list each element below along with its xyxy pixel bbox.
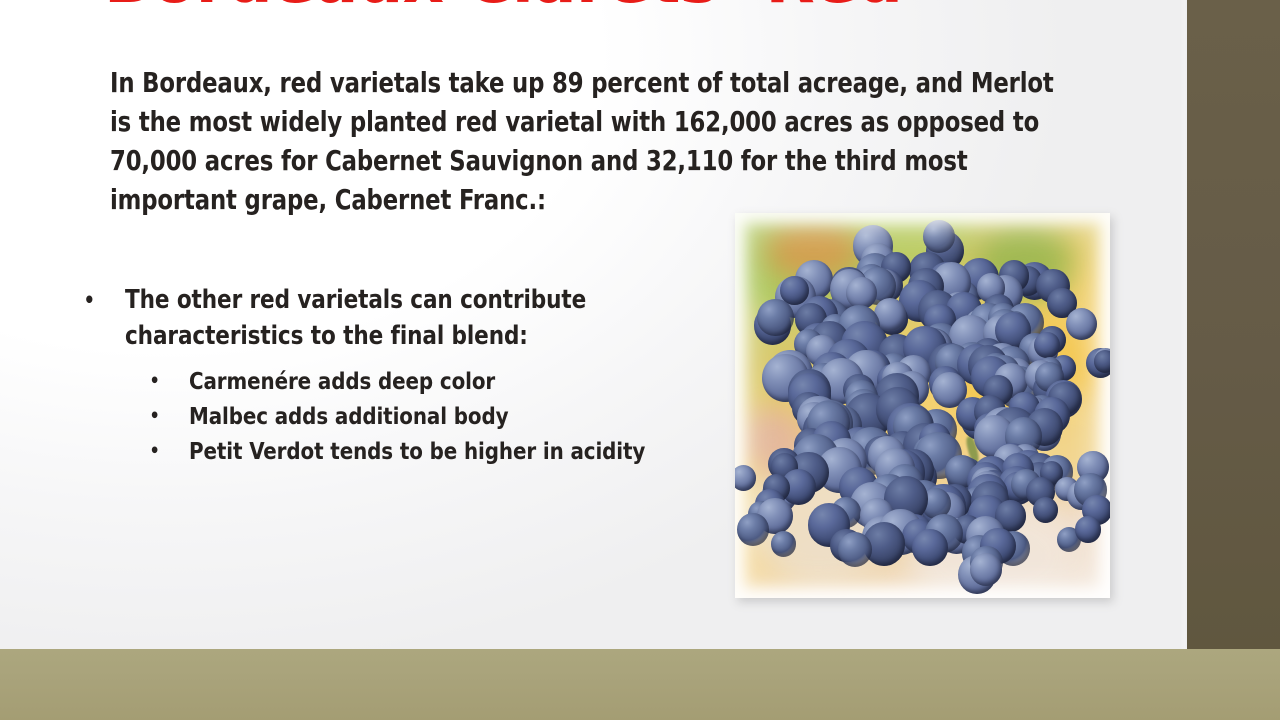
grape-cluster-photo-canvas — [735, 213, 1110, 598]
bullet-level1-text: The other red varietals can contribute c… — [125, 285, 586, 351]
bullet-level2-item: • Carmenére adds deep color — [142, 364, 665, 398]
bullet-marker-icon: • — [84, 282, 95, 318]
photo-grape-berry — [846, 277, 877, 309]
presentation-slide: Bordeaux Clarets- Red In Bordeaux, red v… — [0, 0, 1280, 720]
slide-title: Bordeaux Clarets- Red — [104, 0, 964, 15]
bullet-level2-item: • Petit Verdot tends to be higher in aci… — [142, 434, 665, 468]
photo-grape-berry — [757, 299, 794, 336]
bullet-level1-item: • The other red varietals can contribute… — [78, 282, 661, 354]
intro-paragraph: In Bordeaux, red varietals take up 89 pe… — [110, 64, 1078, 220]
photo-grape-berry — [1094, 350, 1110, 373]
bullet-level2-text: Malbec adds additional body — [189, 402, 508, 430]
bullet-level2-text: Petit Verdot tends to be higher in acidi… — [189, 437, 645, 465]
bullet-list: • The other red varietals can contribute… — [78, 282, 698, 469]
bullet-level2-text: Carmenére adds deep color — [189, 367, 495, 395]
photo-grape-berry — [1033, 497, 1058, 523]
grape-cluster-photo — [735, 213, 1110, 598]
bullet-marker-icon: • — [150, 399, 160, 433]
decorative-right-band — [1187, 0, 1280, 649]
bullet-level2-item: • Malbec adds additional body — [142, 399, 665, 433]
bullet-sublist: • Carmenére adds deep color • Malbec add… — [78, 364, 698, 468]
photo-grape-berry — [771, 531, 796, 557]
bullet-marker-icon: • — [150, 364, 160, 398]
photo-grape-berry — [1034, 332, 1060, 358]
photo-grape-berry — [923, 220, 955, 253]
photo-grape-berry — [1075, 516, 1101, 542]
bullet-marker-icon: • — [150, 434, 160, 468]
photo-grape-berry — [912, 529, 948, 566]
decorative-bottom-band — [0, 649, 1280, 720]
